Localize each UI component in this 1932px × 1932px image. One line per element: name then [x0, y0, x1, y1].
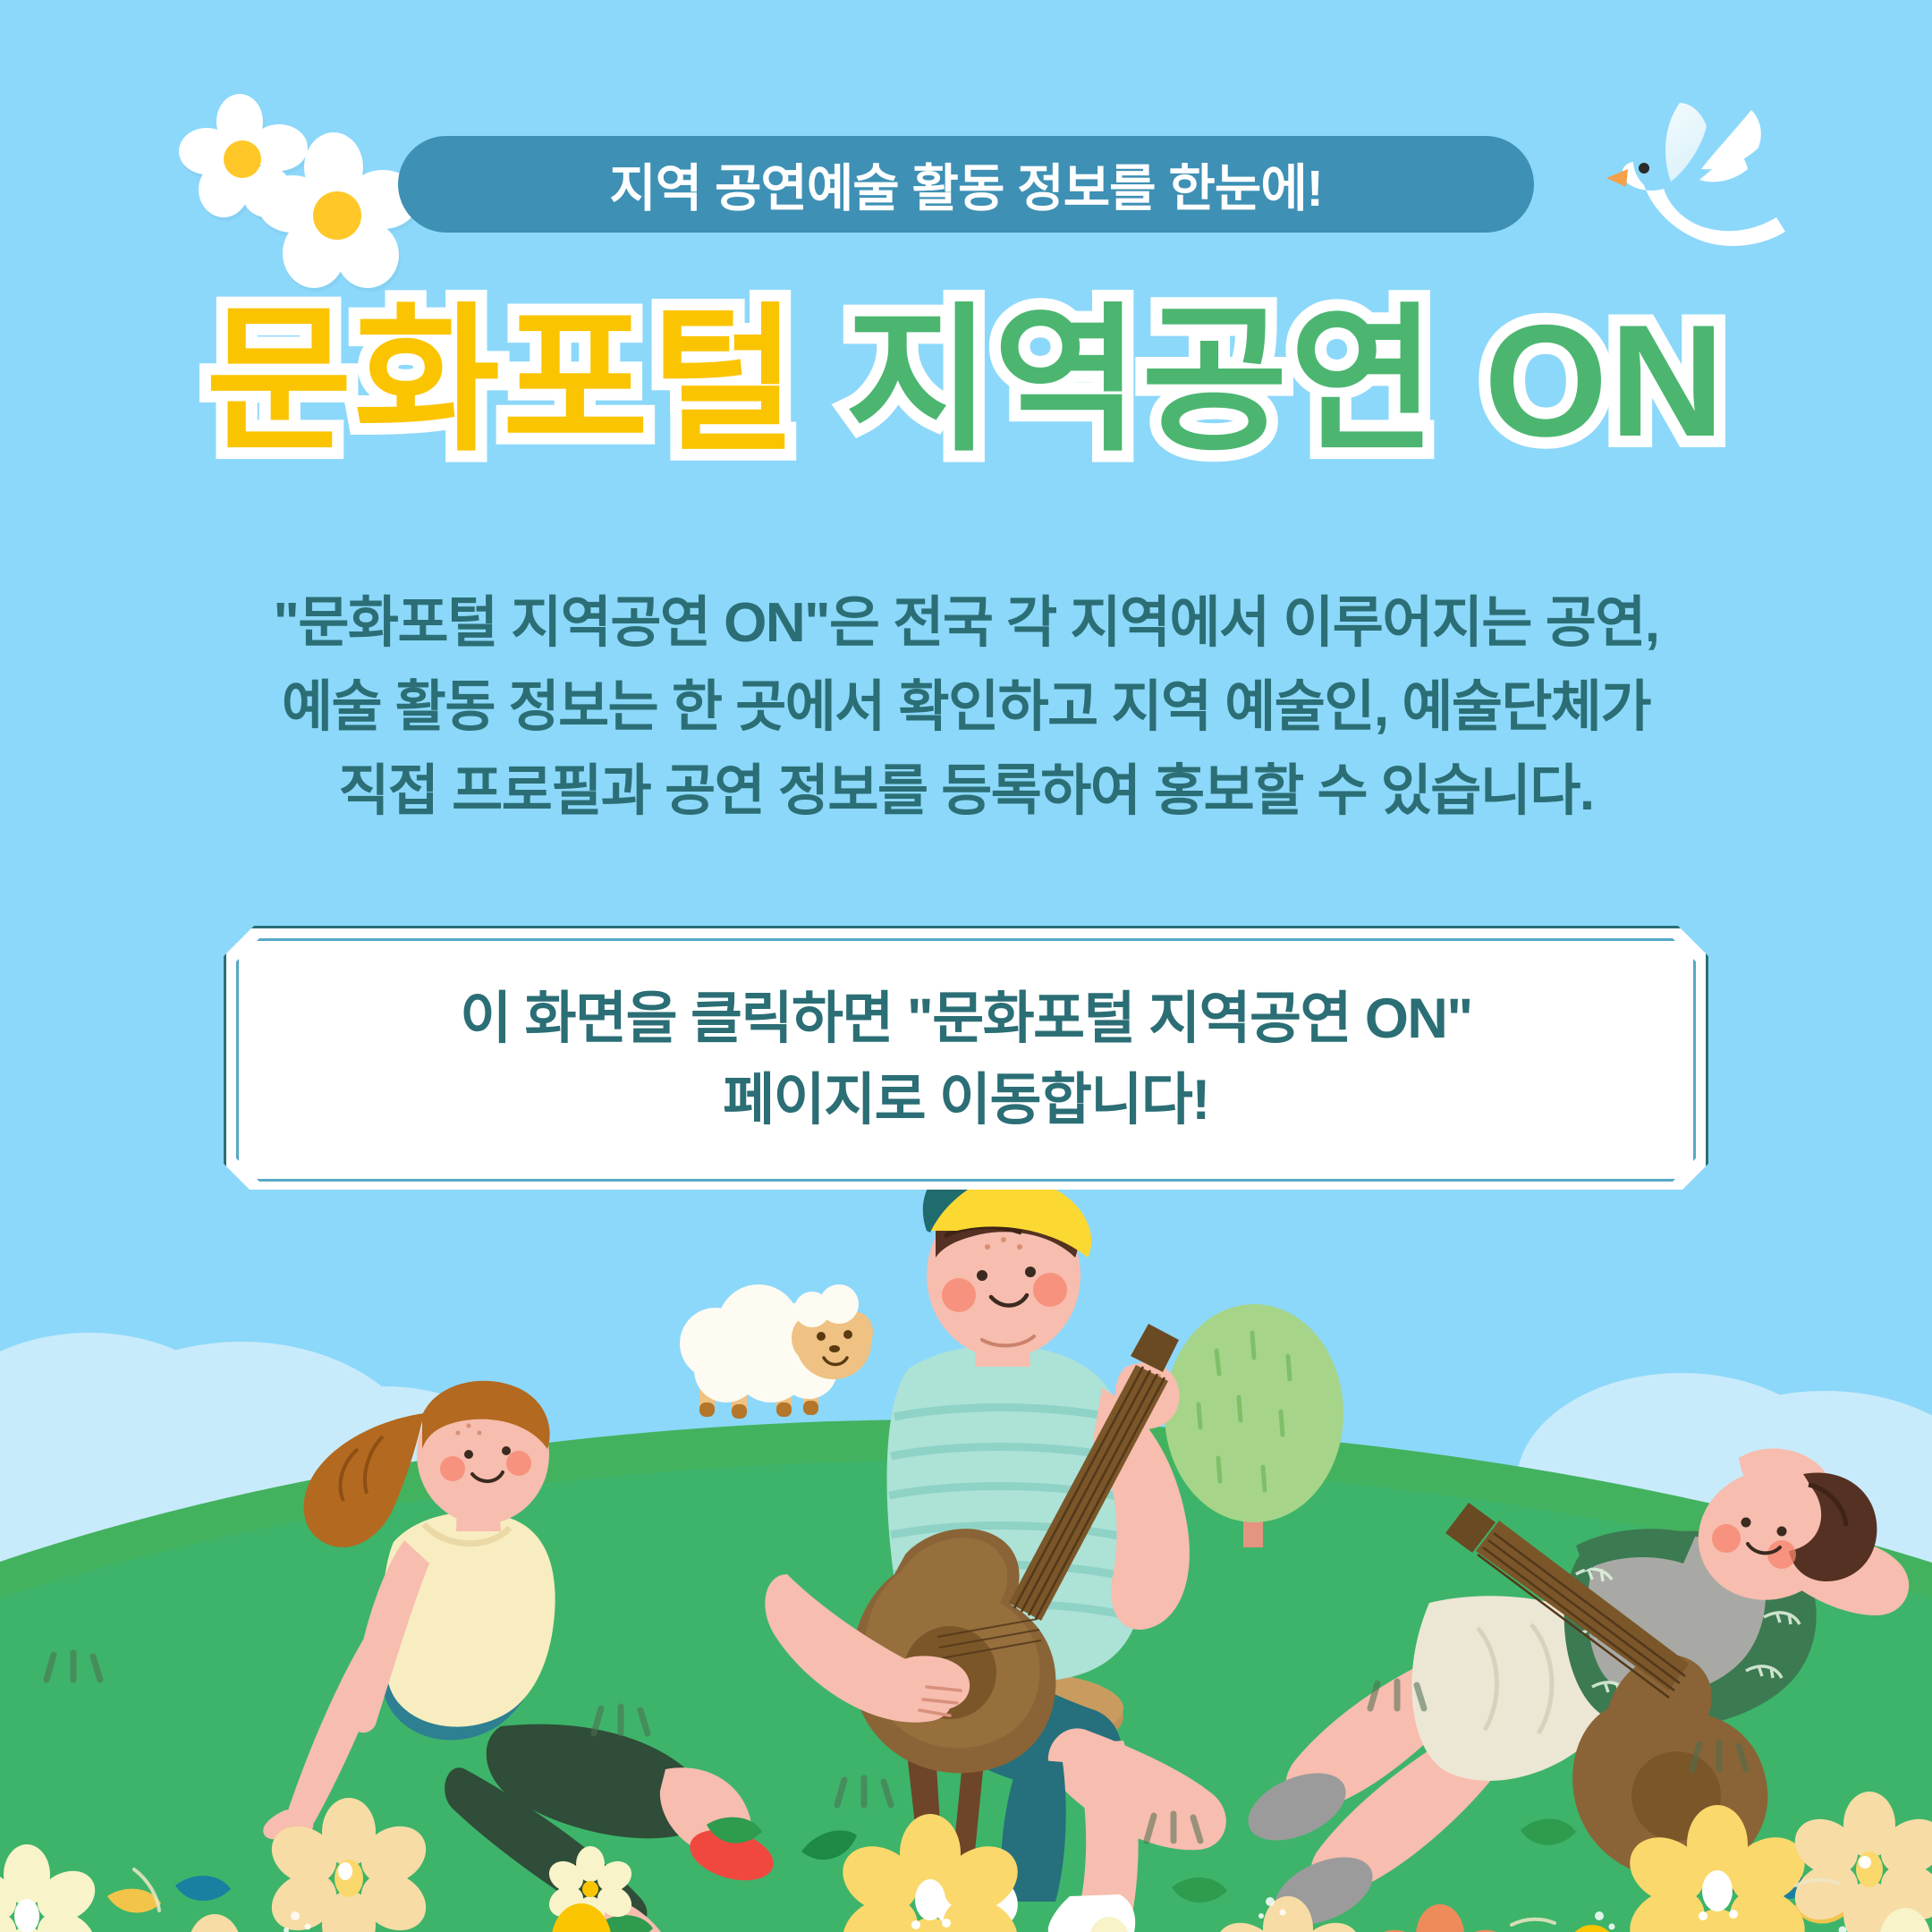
dove-icon — [1601, 76, 1834, 255]
header-banner: 지역 공연예술 활동 정보를 한눈에! — [398, 136, 1534, 233]
description-text: "문화포털 지역공연 ON"은 전국 각 지역에서 이루어지는 공연, 예술 활… — [98, 581, 1834, 835]
page-title: 문화포털 지역공연 ON — [0, 295, 1932, 467]
cta-box[interactable]: 이 화면을 클릭하면 "문화포털 지역공연 ON" 페이지로 이동합니다! — [224, 926, 1708, 1194]
header-banner-text: 지역 공연예술 활동 정보를 한눈에! — [609, 148, 1323, 221]
description-line: "문화포털 지역공연 ON"은 전국 각 지역에서 이루어지는 공연, — [98, 581, 1834, 665]
daisy-flower-icon — [258, 132, 419, 293]
cta-line: 이 화면을 클릭하면 "문화포털 지역공연 ON" — [460, 979, 1472, 1060]
page-title-part1: 문화포털 — [206, 292, 799, 470]
page-title-part2: 지역공연 ON — [845, 292, 1727, 470]
illustration-scene — [0, 1190, 1932, 1932]
poster-canvas[interactable]: 지역 공연예술 활동 정보를 한눈에! 문화포털 지역공연 ON "문화포털 지… — [0, 0, 1932, 1932]
cta-text: 이 화면을 클릭하면 "문화포털 지역공연 ON" 페이지로 이동합니다! — [224, 926, 1708, 1194]
cta-line: 페이지로 이동합니다! — [723, 1060, 1209, 1141]
description-line: 직접 프로필과 공연 정보를 등록하여 홍보할 수 있습니다. — [98, 750, 1834, 834]
description-line: 예술 활동 정보는 한 곳에서 확인하고 지역 예술인, 예술단체가 — [98, 665, 1834, 750]
